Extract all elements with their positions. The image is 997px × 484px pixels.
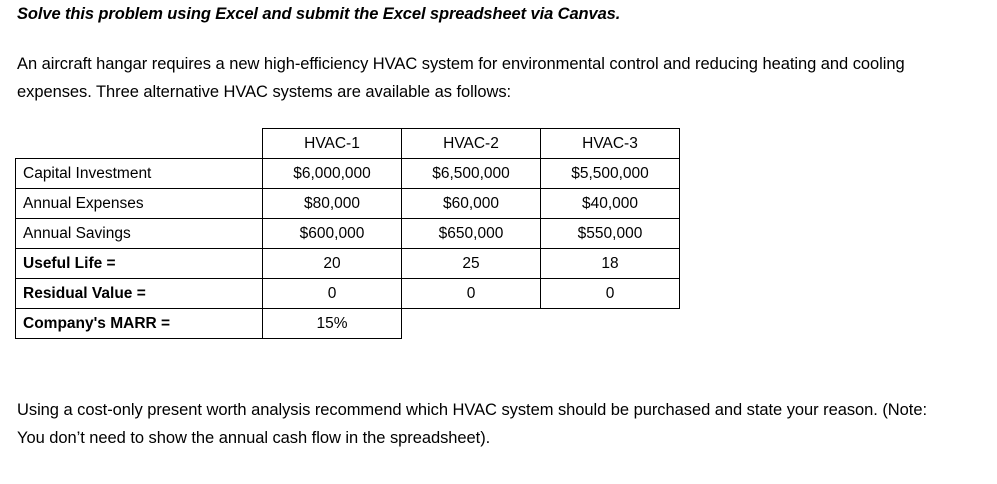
row-label-annual-expenses: Annual Expenses: [16, 189, 263, 219]
cell-useful-life-hvac-2: 25: [402, 249, 541, 279]
cell-annual-expenses-hvac-2: $60,000: [402, 189, 541, 219]
column-header-hvac-1: HVAC-1: [263, 129, 402, 159]
cell-annual-expenses-hvac-3: $40,000: [541, 189, 680, 219]
row-label-company-marr: Company's MARR =: [16, 309, 263, 339]
table-row: Useful Life = 20 25 18: [16, 249, 680, 279]
table-row: Annual Expenses $80,000 $60,000 $40,000: [16, 189, 680, 219]
table-row: Company's MARR = 15%: [16, 309, 680, 339]
cell-annual-savings-hvac-1: $600,000: [263, 219, 402, 249]
column-header-hvac-3: HVAC-3: [541, 129, 680, 159]
table-row: Capital Investment $6,000,000 $6,500,000…: [16, 159, 680, 189]
table-row: Annual Savings $600,000 $650,000 $550,00…: [16, 219, 680, 249]
cell-residual-value-hvac-3: 0: [541, 279, 680, 309]
cell-useful-life-hvac-1: 20: [263, 249, 402, 279]
instruction-line: Solve this problem using Excel and submi…: [17, 2, 967, 26]
row-label-useful-life: Useful Life =: [16, 249, 263, 279]
problem-page: Solve this problem using Excel and submi…: [0, 0, 997, 484]
table-row: Residual Value = 0 0 0: [16, 279, 680, 309]
cell-annual-savings-hvac-3: $550,000: [541, 219, 680, 249]
row-label-capital-investment: Capital Investment: [16, 159, 263, 189]
cell-capital-investment-hvac-3: $5,500,000: [541, 159, 680, 189]
cell-company-marr-empty-1: [402, 309, 541, 339]
cell-capital-investment-hvac-2: $6,500,000: [402, 159, 541, 189]
table-header-row: HVAC-1 HVAC-2 HVAC-3: [16, 129, 680, 159]
problem-statement-paragraph: An aircraft hangar requires a new high-e…: [17, 50, 947, 106]
cell-capital-investment-hvac-1: $6,000,000: [263, 159, 402, 189]
cell-company-marr-empty-2: [541, 309, 680, 339]
cell-annual-expenses-hvac-1: $80,000: [263, 189, 402, 219]
row-label-annual-savings: Annual Savings: [16, 219, 263, 249]
cell-annual-savings-hvac-2: $650,000: [402, 219, 541, 249]
closing-question-paragraph: Using a cost-only present worth analysis…: [17, 396, 957, 452]
cell-company-marr-value: 15%: [263, 309, 402, 339]
column-header-hvac-2: HVAC-2: [402, 129, 541, 159]
cell-residual-value-hvac-2: 0: [402, 279, 541, 309]
hvac-table-container: HVAC-1 HVAC-2 HVAC-3 Capital Investment …: [15, 128, 680, 339]
cell-residual-value-hvac-1: 0: [263, 279, 402, 309]
table-corner-cell: [16, 129, 263, 159]
row-label-residual-value: Residual Value =: [16, 279, 263, 309]
cell-useful-life-hvac-3: 18: [541, 249, 680, 279]
hvac-comparison-table: HVAC-1 HVAC-2 HVAC-3 Capital Investment …: [15, 128, 680, 339]
